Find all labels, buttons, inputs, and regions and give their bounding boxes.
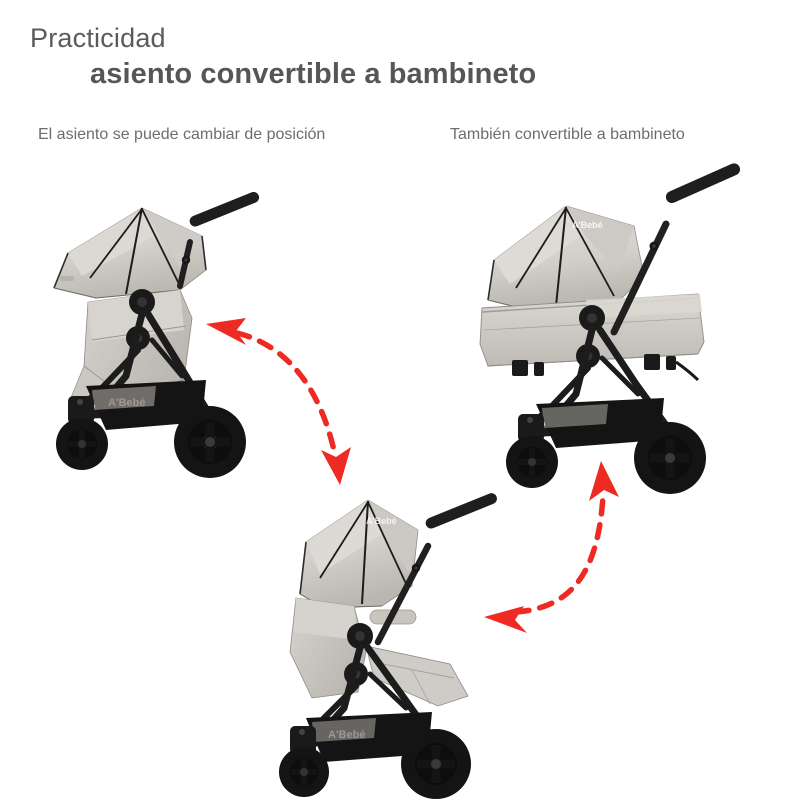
seat-unit	[290, 598, 468, 706]
rear-wheel	[634, 422, 706, 494]
stroller-seat-forward-facing: A'Bebé	[262, 482, 552, 782]
caption-right: También convertible a bambineto	[450, 126, 685, 144]
bassinet-hood: A'Bebé	[488, 206, 644, 310]
infographic-canvas: Practicidad asiento convertible a bambin…	[0, 0, 800, 800]
rear-wheel	[401, 729, 471, 799]
page-title: asiento convertible a bambineto	[90, 59, 770, 91]
brand-logo: A'Bebé	[572, 220, 603, 230]
brand-logo: A'Bebé	[366, 516, 397, 526]
brand-logo: A'Bebé	[328, 729, 365, 741]
stroller-bassinet: A'Bebé	[468, 172, 768, 492]
header-eyebrow: Practicidad	[30, 24, 770, 54]
brand-logo: A'Bebé	[108, 397, 145, 409]
stroller-seat-rear-facing: A'Bebé	[30, 190, 300, 490]
page-header: Practicidad asiento convertible a bambin…	[30, 24, 770, 91]
rear-wheel	[174, 406, 246, 478]
canopy: A'Bebé	[300, 500, 418, 608]
caption-left: El asiento se puede cambiar de posición	[38, 126, 325, 144]
